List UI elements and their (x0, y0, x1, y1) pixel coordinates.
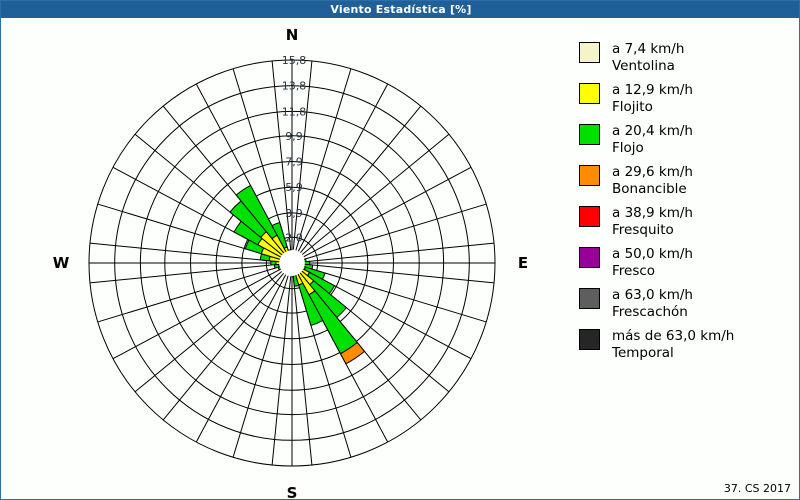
legend-label: a 20,4 km/hFlojo (612, 123, 693, 157)
radial-tick-label: 15,8 (282, 54, 307, 67)
legend-label: a 63,0 km/hFrescachón (612, 287, 693, 321)
legend-class-label: Ventolina (612, 58, 684, 75)
legend-color-swatch (579, 288, 600, 309)
compass-label-south: S (287, 484, 298, 499)
wind-rose-svg: 2,03,95,97,99,911,813,815,8 NESW (2, 19, 568, 499)
legend-speed-label: a 20,4 km/h (612, 123, 693, 140)
radial-tick-label: 3,9 (285, 207, 303, 220)
radial-tick-label: 7,9 (285, 156, 303, 169)
radial-tick-label: 13,8 (282, 80, 307, 93)
legend-item[interactable]: a 63,0 km/hFrescachón (579, 287, 794, 321)
legend-color-swatch (579, 42, 600, 63)
legend-speed-label: a 38,9 km/h (612, 205, 693, 222)
radial-tick-labels: 2,03,95,97,99,911,813,815,8 (282, 54, 307, 244)
legend-class-label: Flojito (612, 99, 693, 116)
legend-label: más de 63,0 km/hTemporal (612, 328, 734, 362)
legend-label: a 12,9 km/hFlojito (612, 82, 693, 116)
legend-label: a 38,9 km/hFresquito (612, 205, 693, 239)
radial-tick-label: 11,8 (282, 105, 307, 118)
legend: a 7,4 km/hVentolinaa 12,9 km/hFlojitoa 2… (579, 41, 794, 369)
legend-class-label: Fresquito (612, 222, 693, 239)
legend-speed-label: a 63,0 km/h (612, 287, 693, 304)
compass-label-west: W (53, 254, 70, 272)
legend-class-label: Bonancible (612, 181, 693, 198)
compass-label-east: E (518, 254, 528, 272)
legend-class-label: Flojo (612, 140, 693, 157)
legend-class-label: Temporal (612, 345, 734, 362)
legend-color-swatch (579, 247, 600, 268)
wind-rose-plot: 2,03,95,97,99,911,813,815,8 NESW (2, 19, 568, 499)
legend-item[interactable]: a 7,4 km/hVentolina (579, 41, 794, 75)
radial-tick-label: 5,9 (285, 181, 303, 194)
legend-label: a 29,6 km/hBonancible (612, 164, 693, 198)
window-title-bar: Viento Estadística [%] (1, 1, 800, 18)
legend-color-swatch (579, 165, 600, 186)
center-hub (279, 250, 305, 276)
legend-label: a 50,0 km/hFresco (612, 246, 693, 280)
legend-color-swatch (579, 83, 600, 104)
legend-item[interactable]: a 50,0 km/hFresco (579, 246, 794, 280)
legend-item[interactable]: a 29,6 km/hBonancible (579, 164, 794, 198)
legend-speed-label: a 50,0 km/h (612, 246, 693, 263)
legend-class-label: Fresco (612, 263, 693, 280)
legend-item[interactable]: a 20,4 km/hFlojo (579, 123, 794, 157)
wind-rose-window: Viento Estadística [%] 2,03,95,97,99,911… (0, 0, 800, 500)
legend-label: a 7,4 km/hVentolina (612, 41, 684, 75)
legend-item[interactable]: a 38,9 km/hFresquito (579, 205, 794, 239)
legend-color-swatch (579, 124, 600, 145)
legend-speed-label: a 12,9 km/h (612, 82, 693, 99)
legend-class-label: Frescachón (612, 304, 693, 321)
legend-speed-label: más de 63,0 km/h (612, 328, 734, 345)
legend-color-swatch (579, 329, 600, 350)
legend-item[interactable]: a 12,9 km/hFlojito (579, 82, 794, 116)
legend-speed-label: a 29,6 km/h (612, 164, 693, 181)
legend-item[interactable]: más de 63,0 km/hTemporal (579, 328, 794, 362)
compass-label-north: N (286, 26, 299, 44)
legend-speed-label: a 7,4 km/h (612, 41, 684, 58)
radial-tick-label: 9,9 (285, 130, 303, 143)
radial-tick-label: 2,0 (285, 231, 303, 244)
legend-color-swatch (579, 206, 600, 227)
footer-credit: 37. CS 2017 (724, 482, 791, 495)
